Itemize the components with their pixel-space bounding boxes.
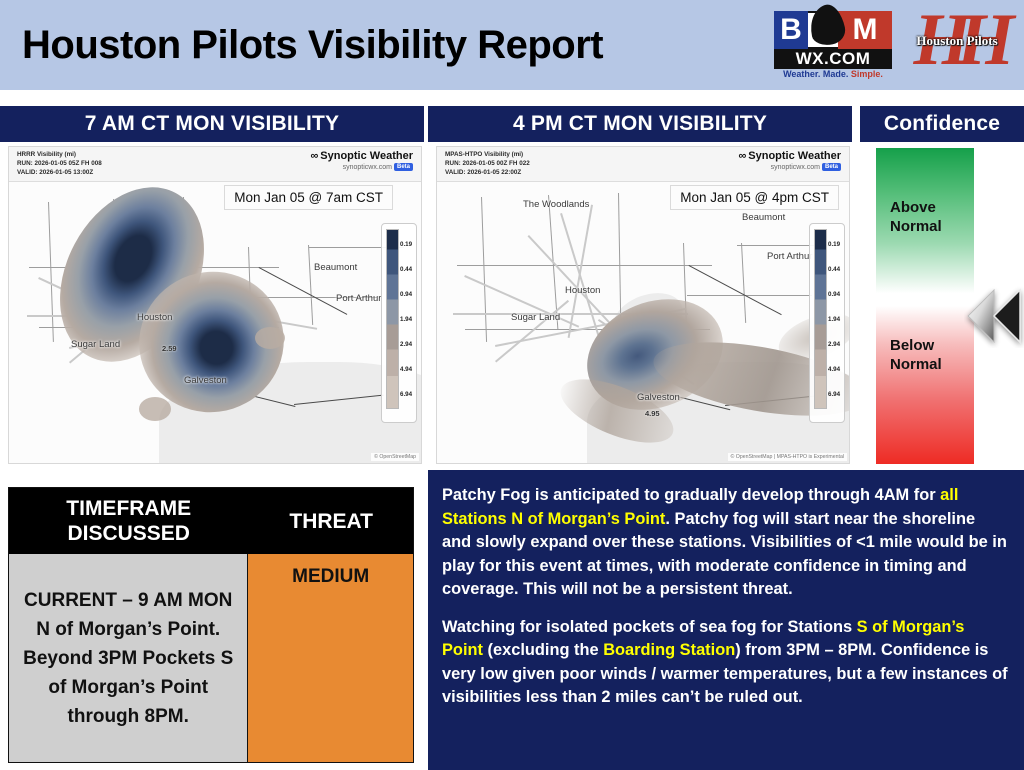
cell-timeframe-value: CURRENT – 9 AM MON N of Morgan’s Point. … (9, 554, 248, 762)
bamwx-tagline-blue: Weather. Made. (783, 69, 851, 79)
colorbar-strip (814, 229, 827, 409)
colorbar-tick: 2.94 (400, 341, 412, 348)
synoptic-label: Synoptic Weather (748, 150, 841, 162)
p2-highlight-2: Boarding Station (603, 641, 735, 659)
city-label-beaumont: Beaumont (742, 212, 785, 223)
synoptic-brand-right: ∞Synoptic Weather synopticwx.comBeta (738, 150, 841, 171)
discussion-panel: Patchy Fog is anticipated to gradually d… (428, 470, 1024, 770)
timeframe-threat-table: TIMEFRAME DISCUSSED THREAT CURRENT – 9 A… (8, 487, 414, 763)
county-line (481, 197, 487, 342)
map-timestamp-left: Mon Jan 05 @ 7am CST (224, 185, 393, 210)
model-run: RUN: 2026-01-05 05Z FH 008 (17, 159, 102, 168)
map-meta-bar-left: HRRR Visibility (mi) RUN: 2026-01-05 05Z… (9, 147, 421, 182)
column-header-threat: THREAT (248, 488, 413, 554)
city-label-beaumont: Beaumont (314, 262, 357, 273)
county-line (741, 243, 746, 323)
colorbar-tick: 6.94 (400, 391, 412, 398)
model-name: MPAS-HTPO Visibility (mi) (445, 150, 530, 159)
synoptic-url-row: synopticwx.comBeta (310, 163, 413, 171)
visibility-map-4pm[interactable]: The Woodlands Houston Sugar Land Galvest… (436, 146, 850, 464)
colorbar-tick: 1.94 (400, 316, 412, 323)
county-line (457, 265, 712, 266)
colorbar-tick: 6.94 (828, 391, 840, 398)
column-header-timeframe: TIMEFRAME DISCUSSED (9, 488, 248, 554)
status-badge: MEDIUM (248, 554, 413, 762)
colorbar-tick: 0.44 (400, 266, 412, 273)
report-page: Houston Pilots Visibility Report B A M W… (0, 0, 1024, 770)
table-row: CURRENT – 9 AM MON N of Morgan’s Point. … (9, 554, 413, 762)
colorbar-strip (386, 229, 399, 409)
p1-seg1: Patchy Fog is anticipated to gradually d… (442, 486, 940, 504)
model-run: RUN: 2026-01-05 00Z FH 022 (445, 159, 530, 168)
synoptic-brand-left: ∞Synoptic Weather synopticwx.comBeta (310, 150, 413, 171)
confidence-below-label: Below Normal (890, 336, 942, 374)
houston-pilots-logo: HH Houston Pilots (898, 9, 1016, 81)
colorbar-tick: 0.19 (400, 241, 412, 248)
city-label-houston: Houston (137, 312, 172, 323)
bamwx-domain: WX.COM (774, 49, 892, 69)
colorbar-tick: 0.94 (400, 291, 412, 298)
city-label-galveston: Galveston (637, 392, 680, 403)
map-attribution-left: © OpenStreetMap (371, 453, 419, 461)
colorbar-tick: 4.94 (828, 366, 840, 373)
discussion-paragraph-1: Patchy Fog is anticipated to gradually d… (442, 484, 1008, 602)
discussion-paragraph-2: Watching for isolated pockets of sea fog… (442, 616, 1008, 710)
colorbar-right: 0.19 0.44 0.94 1.94 2.94 4.94 6.94 (809, 223, 845, 423)
left-chevron-arrow-icon (964, 284, 1024, 348)
p2-seg2: (excluding the (483, 641, 603, 659)
county-line (687, 295, 812, 296)
colorbar-tick: 0.19 (828, 241, 840, 248)
synoptic-brand-name: ∞Synoptic Weather (738, 150, 841, 162)
synoptic-brand-name: ∞Synoptic Weather (310, 150, 413, 162)
right-panel-header: 4 PM CT MON VISIBILITY (428, 106, 852, 142)
map-model-info-right: MPAS-HTPO Visibility (mi) RUN: 2026-01-0… (445, 150, 530, 178)
bamwx-tagline: Weather. Made. Simple. (774, 69, 892, 79)
city-label-sugar-land: Sugar Land (511, 312, 560, 323)
synoptic-url-row: synopticwx.comBeta (738, 163, 841, 171)
infinity-icon: ∞ (738, 150, 745, 162)
beta-badge: Beta (394, 163, 413, 171)
map-meta-bar-right: MPAS-HTPO Visibility (mi) RUN: 2026-01-0… (437, 147, 849, 182)
page-title: Houston Pilots Visibility Report (22, 23, 603, 68)
model-name: HRRR Visibility (mi) (17, 150, 102, 159)
visibility-map-7am[interactable]: Houston Sugar Land Galveston Beaumont Po… (8, 146, 422, 464)
infinity-icon: ∞ (310, 150, 317, 162)
confidence-above-line1: Above (890, 198, 942, 217)
city-label-houston: Houston (565, 285, 600, 296)
highway-line (568, 205, 593, 338)
left-panel-header: 7 AM CT MON VISIBILITY (0, 106, 424, 142)
contour-value-label: 2.59 (162, 344, 177, 353)
bamwx-letter-b: B (774, 11, 808, 49)
model-valid: VALID: 2026-01-05 13:00Z (17, 168, 102, 177)
highway-line (495, 300, 569, 362)
logo-group: B A M WX.COM Weather. Made. Simple. HH H… (774, 9, 1016, 81)
synoptic-url: synopticwx.com (343, 164, 392, 171)
title-bar: Houston Pilots Visibility Report B A M W… (0, 0, 1024, 90)
fog-patch (255, 327, 285, 349)
beta-badge: Beta (822, 163, 841, 171)
colorbar-tick: 0.44 (828, 266, 840, 273)
model-valid: VALID: 2026-01-05 22:00Z (445, 168, 530, 177)
confidence-above-line2: Normal (890, 217, 942, 236)
colorbar-tick: 0.94 (828, 291, 840, 298)
map-model-info-left: HRRR Visibility (mi) RUN: 2026-01-05 05Z… (17, 150, 102, 178)
city-label-port-arthur: Port Arthur (767, 251, 812, 262)
colorbar-left: 0.19 0.44 0.94 1.94 2.94 4.94 6.94 (381, 223, 417, 423)
synoptic-url: synopticwx.com (771, 164, 820, 171)
p2-seg1: Watching for isolated pockets of sea fog… (442, 618, 857, 636)
county-line (48, 202, 54, 342)
confidence-gradient-bar (876, 148, 974, 464)
confidence-below-line1: Below (890, 336, 942, 355)
confidence-below-line2: Normal (890, 355, 942, 374)
colorbar-tick: 2.94 (828, 341, 840, 348)
confidence-above-label: Above Normal (890, 198, 942, 236)
city-label-sugar-land: Sugar Land (71, 339, 120, 350)
synoptic-label: Synoptic Weather (320, 150, 413, 162)
bamwx-letter-m: M (838, 11, 892, 49)
city-label-galveston: Galveston (184, 375, 227, 386)
houston-pilots-name: Houston Pilots (900, 33, 1014, 49)
confidence-panel-header: Confidence (860, 106, 1024, 142)
fog-patch (139, 397, 171, 421)
city-label-port-arthur: Port Arthur (336, 293, 381, 304)
county-line (618, 193, 621, 318)
colorbar-tick: 4.94 (400, 366, 412, 373)
confidence-gauge[interactable]: Above Normal Below Normal (860, 146, 1024, 466)
bamwx-tagline-red: Simple. (851, 69, 883, 79)
city-label-the-woodlands: The Woodlands (523, 199, 589, 210)
map-timestamp-right: Mon Jan 05 @ 4pm CST (670, 185, 839, 210)
county-line (308, 245, 313, 325)
bamwx-logo: B A M WX.COM Weather. Made. Simple. (774, 9, 892, 81)
table-header-row: TIMEFRAME DISCUSSED THREAT (9, 488, 413, 554)
map-attribution-right: © OpenStreetMap | MPAS-HTPO is Experimen… (728, 453, 847, 461)
contour-value-label: 4.95 (645, 409, 660, 418)
colorbar-tick: 1.94 (828, 316, 840, 323)
